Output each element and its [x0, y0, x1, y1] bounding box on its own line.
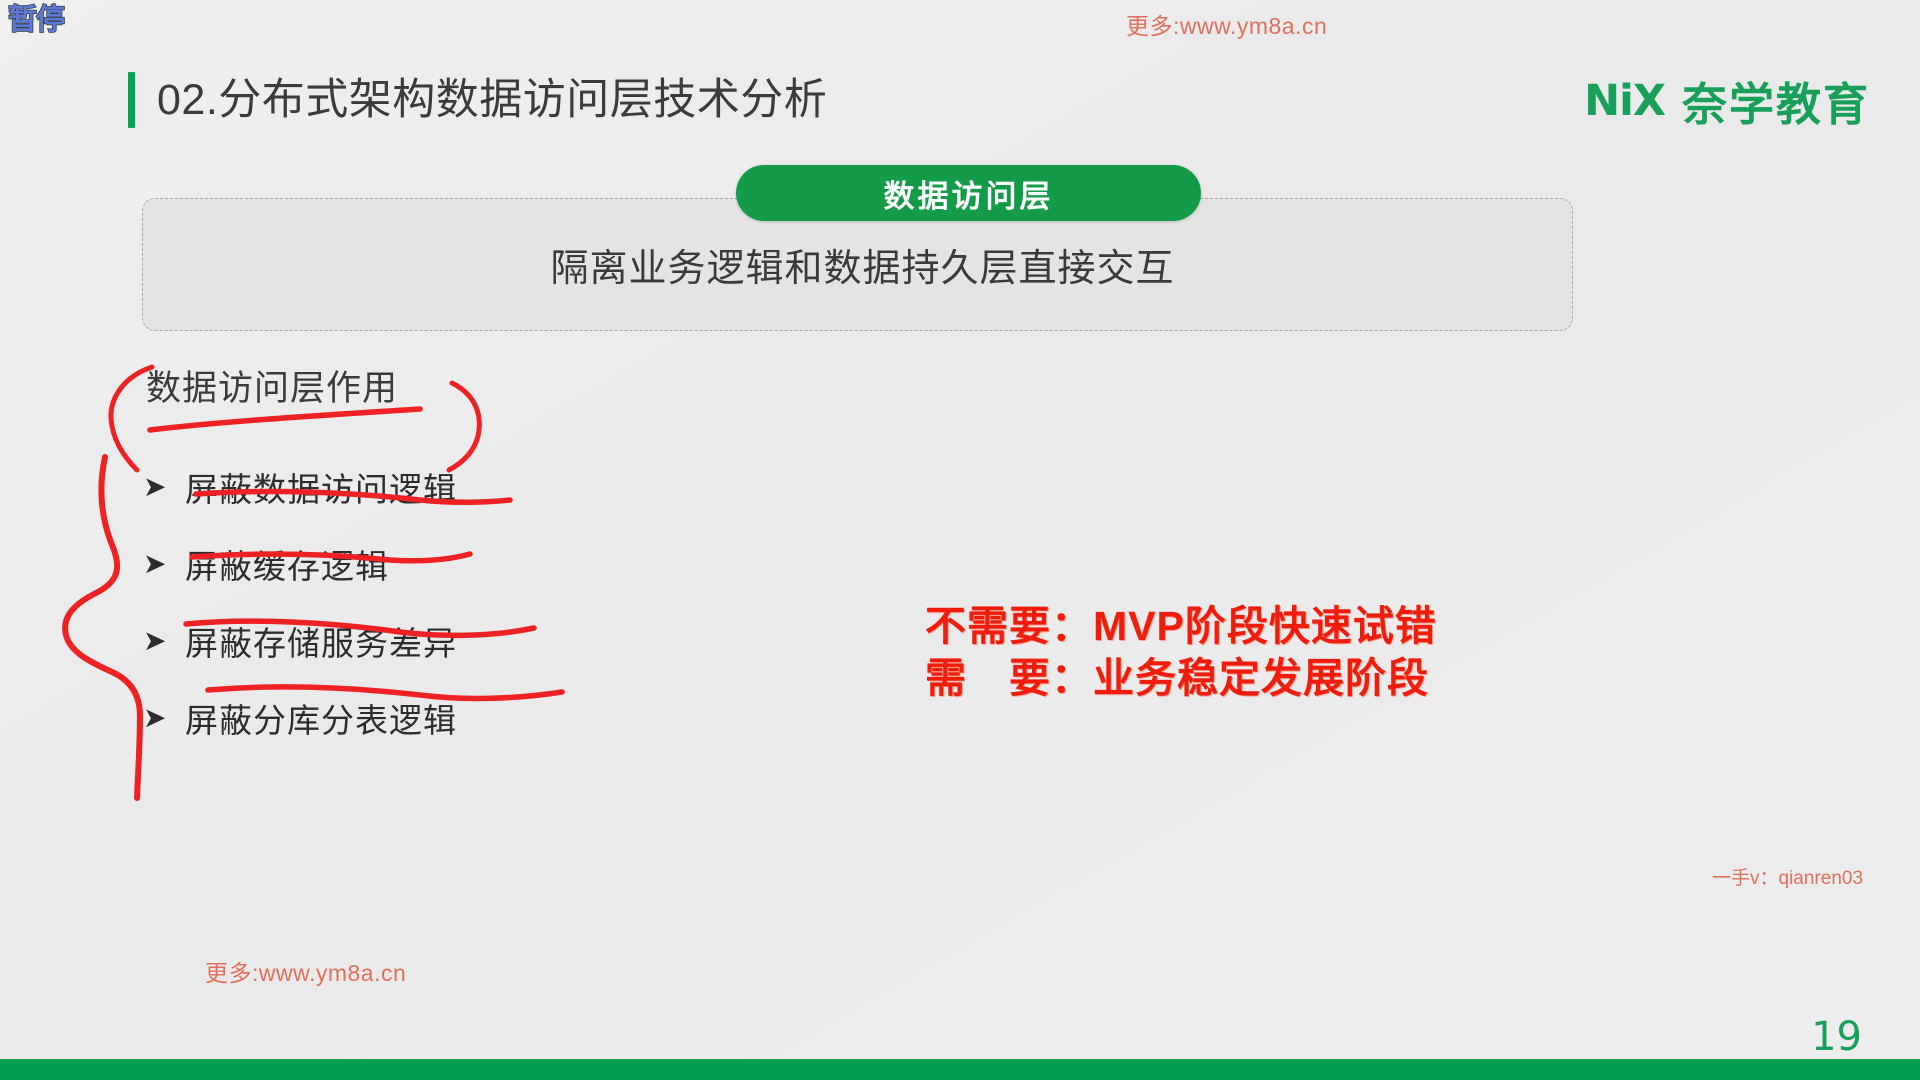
hero-pill-label: 数据访问层 — [736, 165, 1201, 221]
slide-canvas: 暂停 更多:www.ym8a.cn 02.分布式架构数据访问层技术分析 NiX … — [0, 0, 1920, 1080]
pause-indicator: 暂停 — [8, 6, 64, 35]
slide-title-row: 02.分布式架构数据访问层技术分析 — [128, 72, 827, 128]
list-item: ➤ 屏蔽缓存逻辑 — [143, 525, 457, 602]
brand-logo: NiX 奈学教育 — [1584, 68, 1870, 133]
hero-pill-text: 数据访问层 — [884, 171, 1054, 216]
page-number: 19 — [1811, 1014, 1862, 1060]
list-item: ➤ 屏蔽存储服务差异 — [143, 602, 457, 679]
page-title: 02.分布式架构数据访问层技术分析 — [157, 79, 827, 122]
arrow-bullet-icon: ➤ — [143, 473, 185, 501]
list-item: ➤ 屏蔽分库分表逻辑 — [143, 679, 457, 756]
list-item: ➤ 屏蔽数据访问逻辑 — [143, 448, 457, 525]
arrow-bullet-icon: ➤ — [143, 704, 185, 732]
watermark-bottom: 更多:www.ym8a.cn — [205, 954, 406, 988]
list-item-label: 屏蔽数据访问逻辑 — [185, 463, 457, 511]
arrow-bullet-icon: ➤ — [143, 550, 185, 578]
callout-line-2: 需 要：业务稳定发展阶段 — [925, 652, 1437, 704]
bullet-list-heading: 数据访问层作用 — [143, 371, 457, 406]
list-item-label: 屏蔽存储服务差异 — [185, 617, 457, 665]
logo-name: 奈学教育 — [1682, 68, 1870, 133]
bullet-list: 数据访问层作用 ➤ 屏蔽数据访问逻辑 ➤ 屏蔽缓存逻辑 ➤ 屏蔽存储服务差异 ➤… — [143, 371, 457, 756]
title-accent-bar — [128, 72, 135, 128]
red-callout: 不需要：MVP阶段快速试错 需 要：业务稳定发展阶段 — [925, 600, 1437, 704]
arrow-bullet-icon: ➤ — [143, 627, 185, 655]
footer-accent-bar — [0, 1059, 1920, 1080]
left-brace-ink — [65, 457, 140, 798]
watermark-top: 更多:www.ym8a.cn — [1126, 7, 1327, 41]
logo-mark-icon: NiX — [1584, 76, 1665, 126]
callout-line-1: 不需要：MVP阶段快速试错 — [925, 600, 1437, 652]
watermark-vendor-contact: 一手v：qianren03 — [1712, 863, 1863, 890]
list-item-label: 屏蔽分库分表逻辑 — [185, 694, 457, 742]
list-item-label: 屏蔽缓存逻辑 — [185, 540, 389, 588]
